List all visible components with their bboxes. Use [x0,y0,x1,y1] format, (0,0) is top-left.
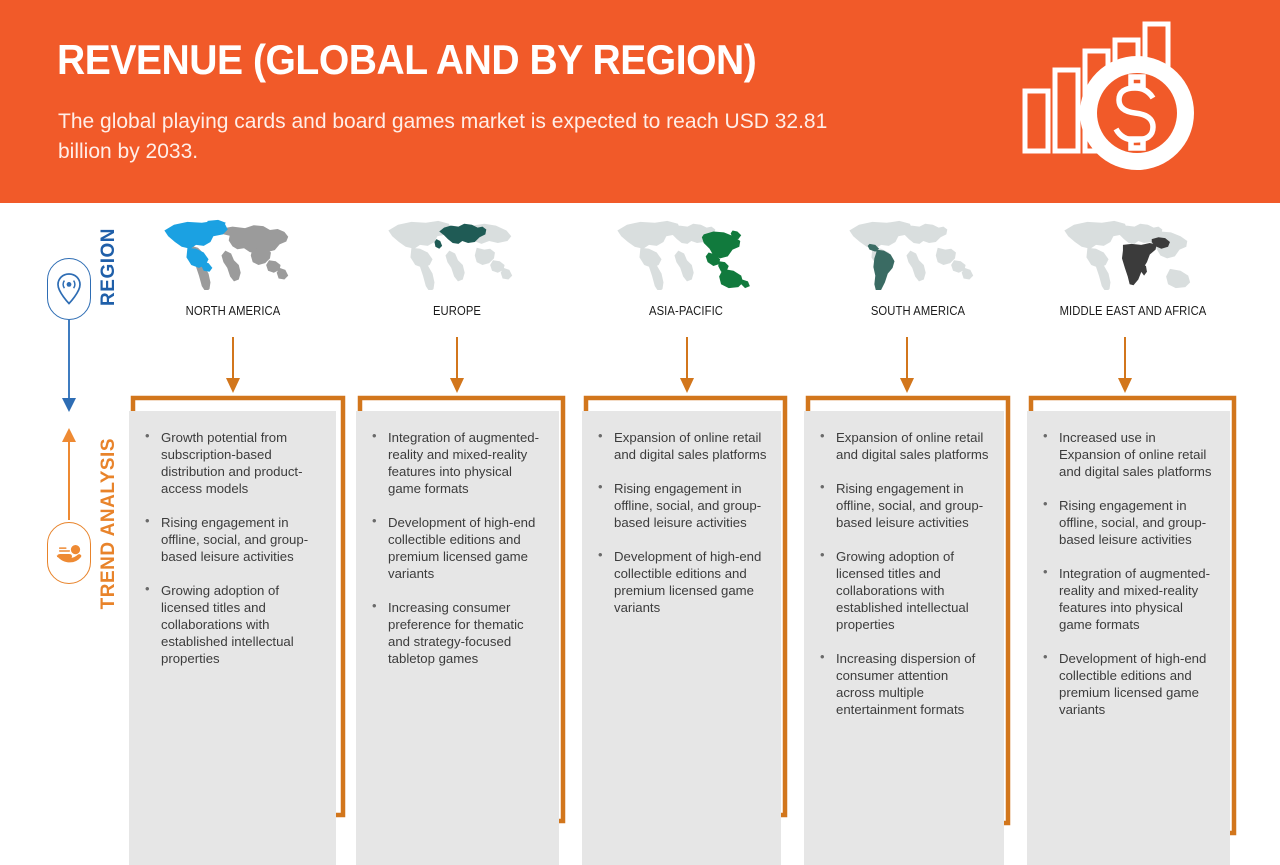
card-asia-pacific: Expansion of online retail and digital s… [582,411,781,865]
region-name-middle-east-africa: MIDDLE EAST AND AFRICA [1052,304,1214,318]
list-item: Expansion of online retail and digital s… [592,429,767,463]
card-europe: Integration of augmented-reality and mix… [356,411,559,865]
bullet-list-europe: Integration of augmented-reality and mix… [366,429,545,667]
world-map-asia-pacific-highlighted [614,218,759,290]
header-banner: REVENUE (GLOBAL AND BY REGION) The globa… [0,0,1280,203]
bullet-list-south-america: Expansion of online retail and digital s… [814,429,990,718]
list-item: Integration of augmented-reality and mix… [366,429,545,497]
connector-arrow-middle-east-africa [1117,337,1133,395]
list-item: Expansion of online retail and digital s… [814,429,990,463]
list-item: Rising engagement in offline, social, an… [139,514,322,565]
list-item: Development of high-end collectible edit… [1037,650,1216,718]
page-subtitle: The global playing cards and board games… [58,107,858,168]
card-north-america: Growth potential from subscription-based… [129,411,336,865]
infographic-root: REVENUE (GLOBAL AND BY REGION) The globa… [0,0,1280,865]
region-column-north-america: NORTH AMERICA [143,218,323,318]
region-down-arrow-icon [59,320,79,415]
list-item: Increasing consumer preference for thema… [366,599,545,667]
connector-arrow-asia-pacific [679,337,695,395]
trend-up-arrow-icon [59,425,79,520]
region-column-south-america: SOUTH AMERICA [828,218,1008,318]
region-column-middle-east-africa: MIDDLE EAST AND AFRICA [1043,218,1223,318]
world-map-middle-east-africa-highlighted [1061,218,1206,290]
dollar-bar-chart-icon [1015,18,1225,188]
hand-holding-coin-icon [54,538,84,568]
world-map-europe-highlighted [385,218,530,290]
list-item: Rising engagement in offline, social, an… [592,480,767,531]
region-name-south-america: SOUTH AMERICA [837,304,999,318]
list-item: Increased use in Expansion of online ret… [1037,429,1216,480]
rail-label-trend: TREND ANALYSIS [98,438,120,609]
region-name-north-america: NORTH AMERICA [152,304,314,318]
rail-label-region: REGION [98,228,120,306]
card-south-america: Expansion of online retail and digital s… [804,411,1004,865]
trend-badge [47,522,91,584]
list-item: Growing adoption of licensed titles and … [139,582,322,667]
list-item: Development of high-end collectible edit… [592,548,767,616]
bullet-list-middle-east-africa: Increased use in Expansion of online ret… [1037,429,1216,718]
list-item: Development of high-end collectible edit… [366,514,545,582]
list-item: Rising engagement in offline, social, an… [814,480,990,531]
region-column-asia-pacific: ASIA-PACIFIC [596,218,776,318]
list-item: Growing adoption of licensed titles and … [814,548,990,633]
world-map-north-america-highlighted [161,218,306,290]
page-title: REVENUE (GLOBAL AND BY REGION) [57,38,756,82]
world-map-south-america-highlighted [846,218,991,290]
list-item: Increasing dispersion of consumer attent… [814,650,990,718]
bullet-list-north-america: Growth potential from subscription-based… [139,429,322,667]
list-item: Growth potential from subscription-based… [139,429,322,497]
region-name-asia-pacific: ASIA-PACIFIC [605,304,767,318]
location-pin-signal-icon [56,272,82,306]
connector-arrow-south-america [899,337,915,395]
list-item: Integration of augmented-reality and mix… [1037,565,1216,633]
region-name-europe: EUROPE [376,304,538,318]
bullet-list-asia-pacific: Expansion of online retail and digital s… [592,429,767,616]
region-column-europe: EUROPE [367,218,547,318]
connector-arrow-europe [449,337,465,395]
list-item: Rising engagement in offline, social, an… [1037,497,1216,548]
region-badge [47,258,91,320]
connector-arrow-north-america [225,337,241,395]
card-middle-east-africa: Increased use in Expansion of online ret… [1027,411,1230,865]
